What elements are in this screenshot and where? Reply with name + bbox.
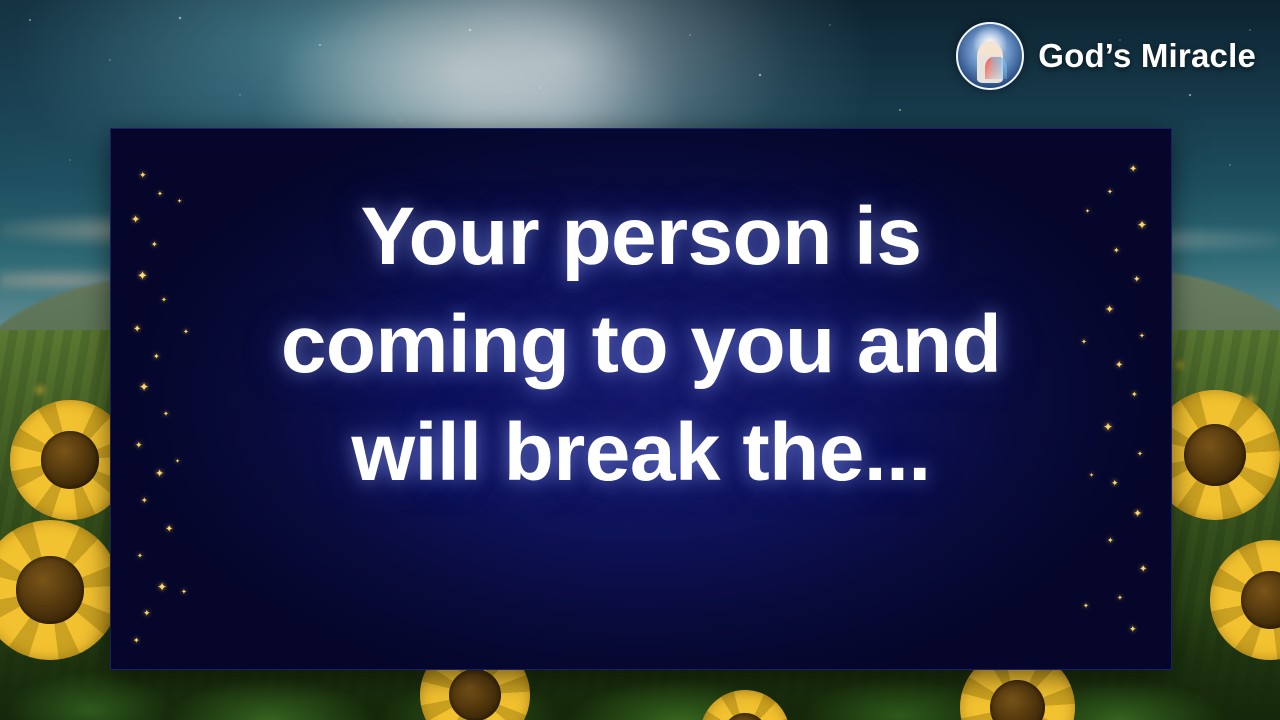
divine-mercy-jesus-icon [956, 22, 1024, 90]
sparkle-icon: ✦ [1107, 537, 1114, 545]
blue-ray-icon [991, 57, 1007, 79]
sparkle-icon: ✦ [1083, 603, 1089, 610]
sparkle-icon: ✦ [1139, 565, 1147, 575]
sparkle-icon: ✦ [1129, 165, 1137, 175]
sparkle-icon: ✦ [139, 171, 147, 180]
sparkle-icon: ✦ [1117, 595, 1123, 602]
brand-logo: God’s Miracle [956, 22, 1256, 90]
sparkle-icon: ✦ [133, 637, 140, 645]
sparkle-icon: ✦ [143, 609, 151, 618]
brand-name: God’s Miracle [1038, 37, 1256, 75]
message-card: ✦✦✦✦✦✦✦✦✦✦✦✦✦✦✦✦✦✦✦✦✦✦ ✦✦✦✦✦✦✦✦✦✦✦✦✦✦✦✦✦… [110, 128, 1172, 670]
sparkle-icon: ✦ [181, 589, 187, 596]
sparkle-icon: ✦ [157, 581, 167, 593]
sparkle-icon: ✦ [137, 553, 143, 560]
message-text: Your person is coming to you and will br… [111, 183, 1171, 508]
sparkle-icon: ✦ [1133, 509, 1142, 520]
scene-root: God’s Miracle ✦✦✦✦✦✦✦✦✦✦✦✦✦✦✦✦✦✦✦✦✦✦ ✦✦✦… [0, 0, 1280, 720]
sparkle-icon: ✦ [1129, 625, 1137, 634]
sparkle-icon: ✦ [165, 525, 173, 535]
